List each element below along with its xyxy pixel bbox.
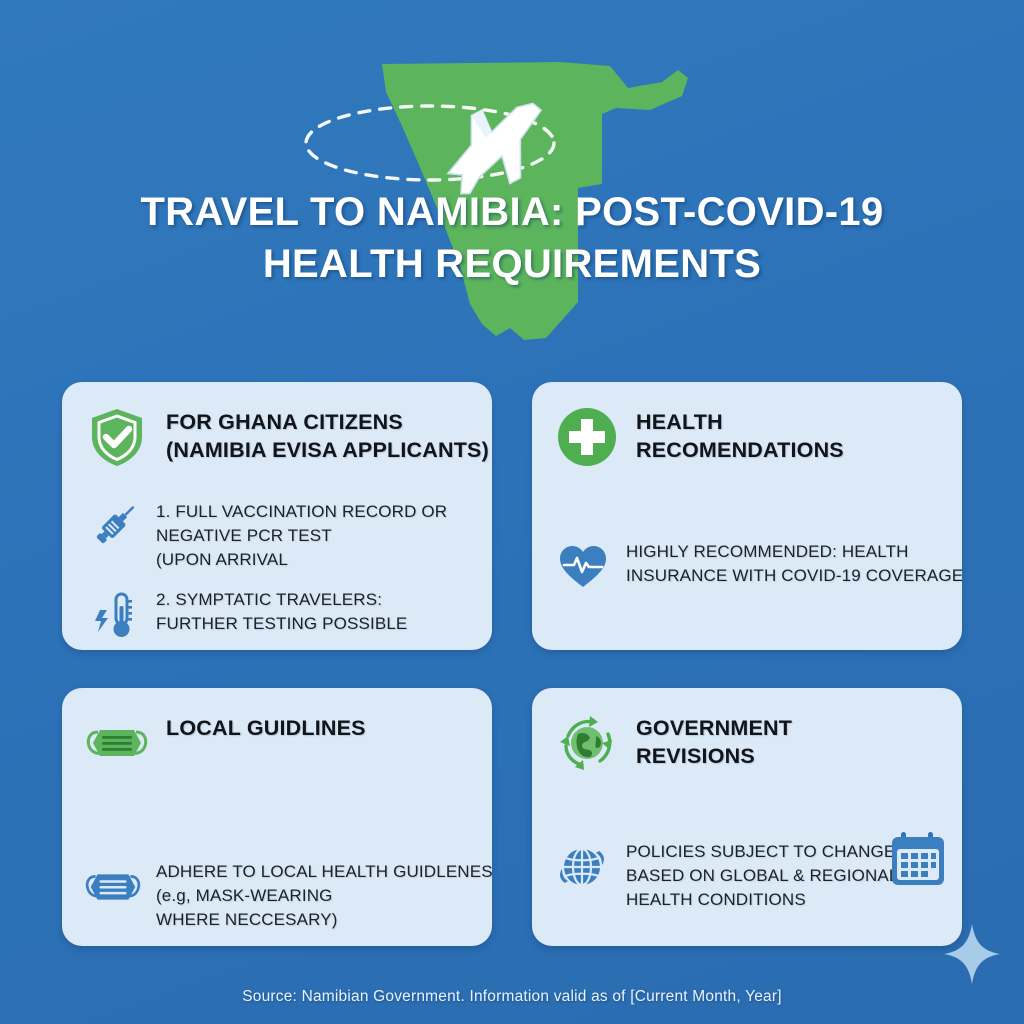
face-mask-blue-icon	[84, 858, 142, 916]
card-government-revisions[interactable]: GOVERNMENT REVISIONS	[532, 688, 962, 946]
globe-wire-icon	[554, 838, 612, 896]
heart-pulse-icon	[554, 538, 612, 596]
header-banner: TRAVEL TO NAMIBIA: POST-COVID-19 HEALTH …	[0, 0, 1024, 360]
row-line-1: HIGHLY RECOMMENDED: HEALTH	[626, 540, 962, 564]
card-header: GOVERNMENT REVISIONS	[554, 710, 940, 786]
page-title: TRAVEL TO NAMIBIA: POST-COVID-19 HEALTH …	[0, 186, 1024, 290]
card-header: FOR GHANA CITIZENS (NAMIBIA EVISA APPLIC…	[84, 404, 470, 480]
row-line-3: HEALTH CONDITIONS	[626, 888, 898, 912]
card-body: POLICIES SUBJECT TO CHANGE BASED ON GLOB…	[554, 838, 940, 912]
syringe-icon	[84, 498, 142, 556]
shield-check-icon	[84, 404, 150, 470]
source-note: Source: Namibian Government. Information…	[0, 988, 1024, 1006]
list-item-text: HIGHLY RECOMMENDED: HEALTH INSURANCE WIT…	[626, 538, 962, 588]
list-item: 1. FULL VACCINATION RECORD OR NEGATIVE P…	[84, 498, 470, 572]
card-title-line-2: (NAMIBIA EVISA APPLICANTS)	[166, 436, 489, 464]
card-header: HEALTH RECOMENDATIONS	[554, 404, 940, 480]
card-title-line-1: GOVERNMENT	[636, 714, 792, 742]
card-body: 1. FULL VACCINATION RECORD OR NEGATIVE P…	[84, 498, 470, 644]
row-line-1: 2. SYMPTATIC TRAVELERS:	[156, 588, 407, 612]
sparkle-icon	[942, 922, 1002, 986]
card-title-line-1: FOR GHANA CITIZENS	[166, 408, 489, 436]
card-health-recommendations[interactable]: HEALTH RECOMENDATIONS HIGHLY RECOMMENDED…	[532, 382, 962, 650]
row-line-2: INSURANCE WITH COVID-19 COVERAGE	[626, 564, 962, 588]
card-body: ADHERE TO LOCAL HEALTH GUIDLENES (e.g, M…	[84, 858, 470, 932]
card-title-line-1: LOCAL GUIDLINES	[166, 714, 366, 742]
list-item: ADHERE TO LOCAL HEALTH GUIDLENES (e.g, M…	[84, 858, 470, 932]
globe-recycle-icon	[554, 710, 620, 776]
card-title: LOCAL GUIDLINES	[166, 710, 366, 742]
list-item-text: 1. FULL VACCINATION RECORD OR NEGATIVE P…	[156, 498, 447, 572]
card-title-line-1: HEALTH	[636, 408, 844, 436]
title-line-1: TRAVEL TO NAMIBIA: POST-COVID-19	[90, 186, 934, 238]
row-line-1: 1. FULL VACCINATION RECORD OR	[156, 500, 447, 524]
card-title: GOVERNMENT REVISIONS	[636, 710, 792, 770]
calendar-icon	[890, 830, 946, 888]
medical-cross-icon	[554, 404, 620, 470]
row-line-2: BASED ON GLOBAL & REGIONAL	[626, 864, 898, 888]
row-line-2: (e.g, MASK-WEARING	[156, 884, 492, 908]
list-item: POLICIES SUBJECT TO CHANGE BASED ON GLOB…	[554, 838, 940, 912]
title-line-2: HEALTH REQUIREMENTS	[90, 238, 934, 290]
row-line-2: FURTHER TESTING POSSIBLE	[156, 612, 407, 636]
face-mask-green-icon	[84, 710, 150, 776]
row-line-3: WHERE NECCESARY)	[156, 908, 492, 932]
list-item: 2. SYMPTATIC TRAVELERS: FURTHER TESTING …	[84, 586, 470, 644]
row-line-3: (UPON ARRIVAL	[156, 548, 447, 572]
card-title: HEALTH RECOMENDATIONS	[636, 404, 844, 464]
card-local-guidelines[interactable]: LOCAL GUIDLINES ADHERE TO LOCAL HEALTH	[62, 688, 492, 946]
list-item: HIGHLY RECOMMENDED: HEALTH INSURANCE WIT…	[554, 538, 940, 596]
row-line-1: ADHERE TO LOCAL HEALTH GUIDLENES	[156, 860, 492, 884]
thermometer-icon	[84, 586, 142, 644]
card-title-line-2: RECOMENDATIONS	[636, 436, 844, 464]
card-header: LOCAL GUIDLINES	[84, 710, 470, 786]
list-item-text: POLICIES SUBJECT TO CHANGE BASED ON GLOB…	[626, 838, 898, 912]
list-item-text: 2. SYMPTATIC TRAVELERS: FURTHER TESTING …	[156, 586, 407, 636]
card-ghana-citizens[interactable]: FOR GHANA CITIZENS (NAMIBIA EVISA APPLIC…	[62, 382, 492, 650]
row-line-2: NEGATIVE PCR TEST	[156, 524, 447, 548]
list-item-text: ADHERE TO LOCAL HEALTH GUIDLENES (e.g, M…	[156, 858, 492, 932]
row-line-1: POLICIES SUBJECT TO CHANGE	[626, 840, 898, 864]
requirements-card-grid: FOR GHANA CITIZENS (NAMIBIA EVISA APPLIC…	[62, 382, 962, 946]
card-title: FOR GHANA CITIZENS (NAMIBIA EVISA APPLIC…	[166, 404, 489, 464]
card-title-line-2: REVISIONS	[636, 742, 792, 770]
card-body: HIGHLY RECOMMENDED: HEALTH INSURANCE WIT…	[554, 538, 940, 596]
